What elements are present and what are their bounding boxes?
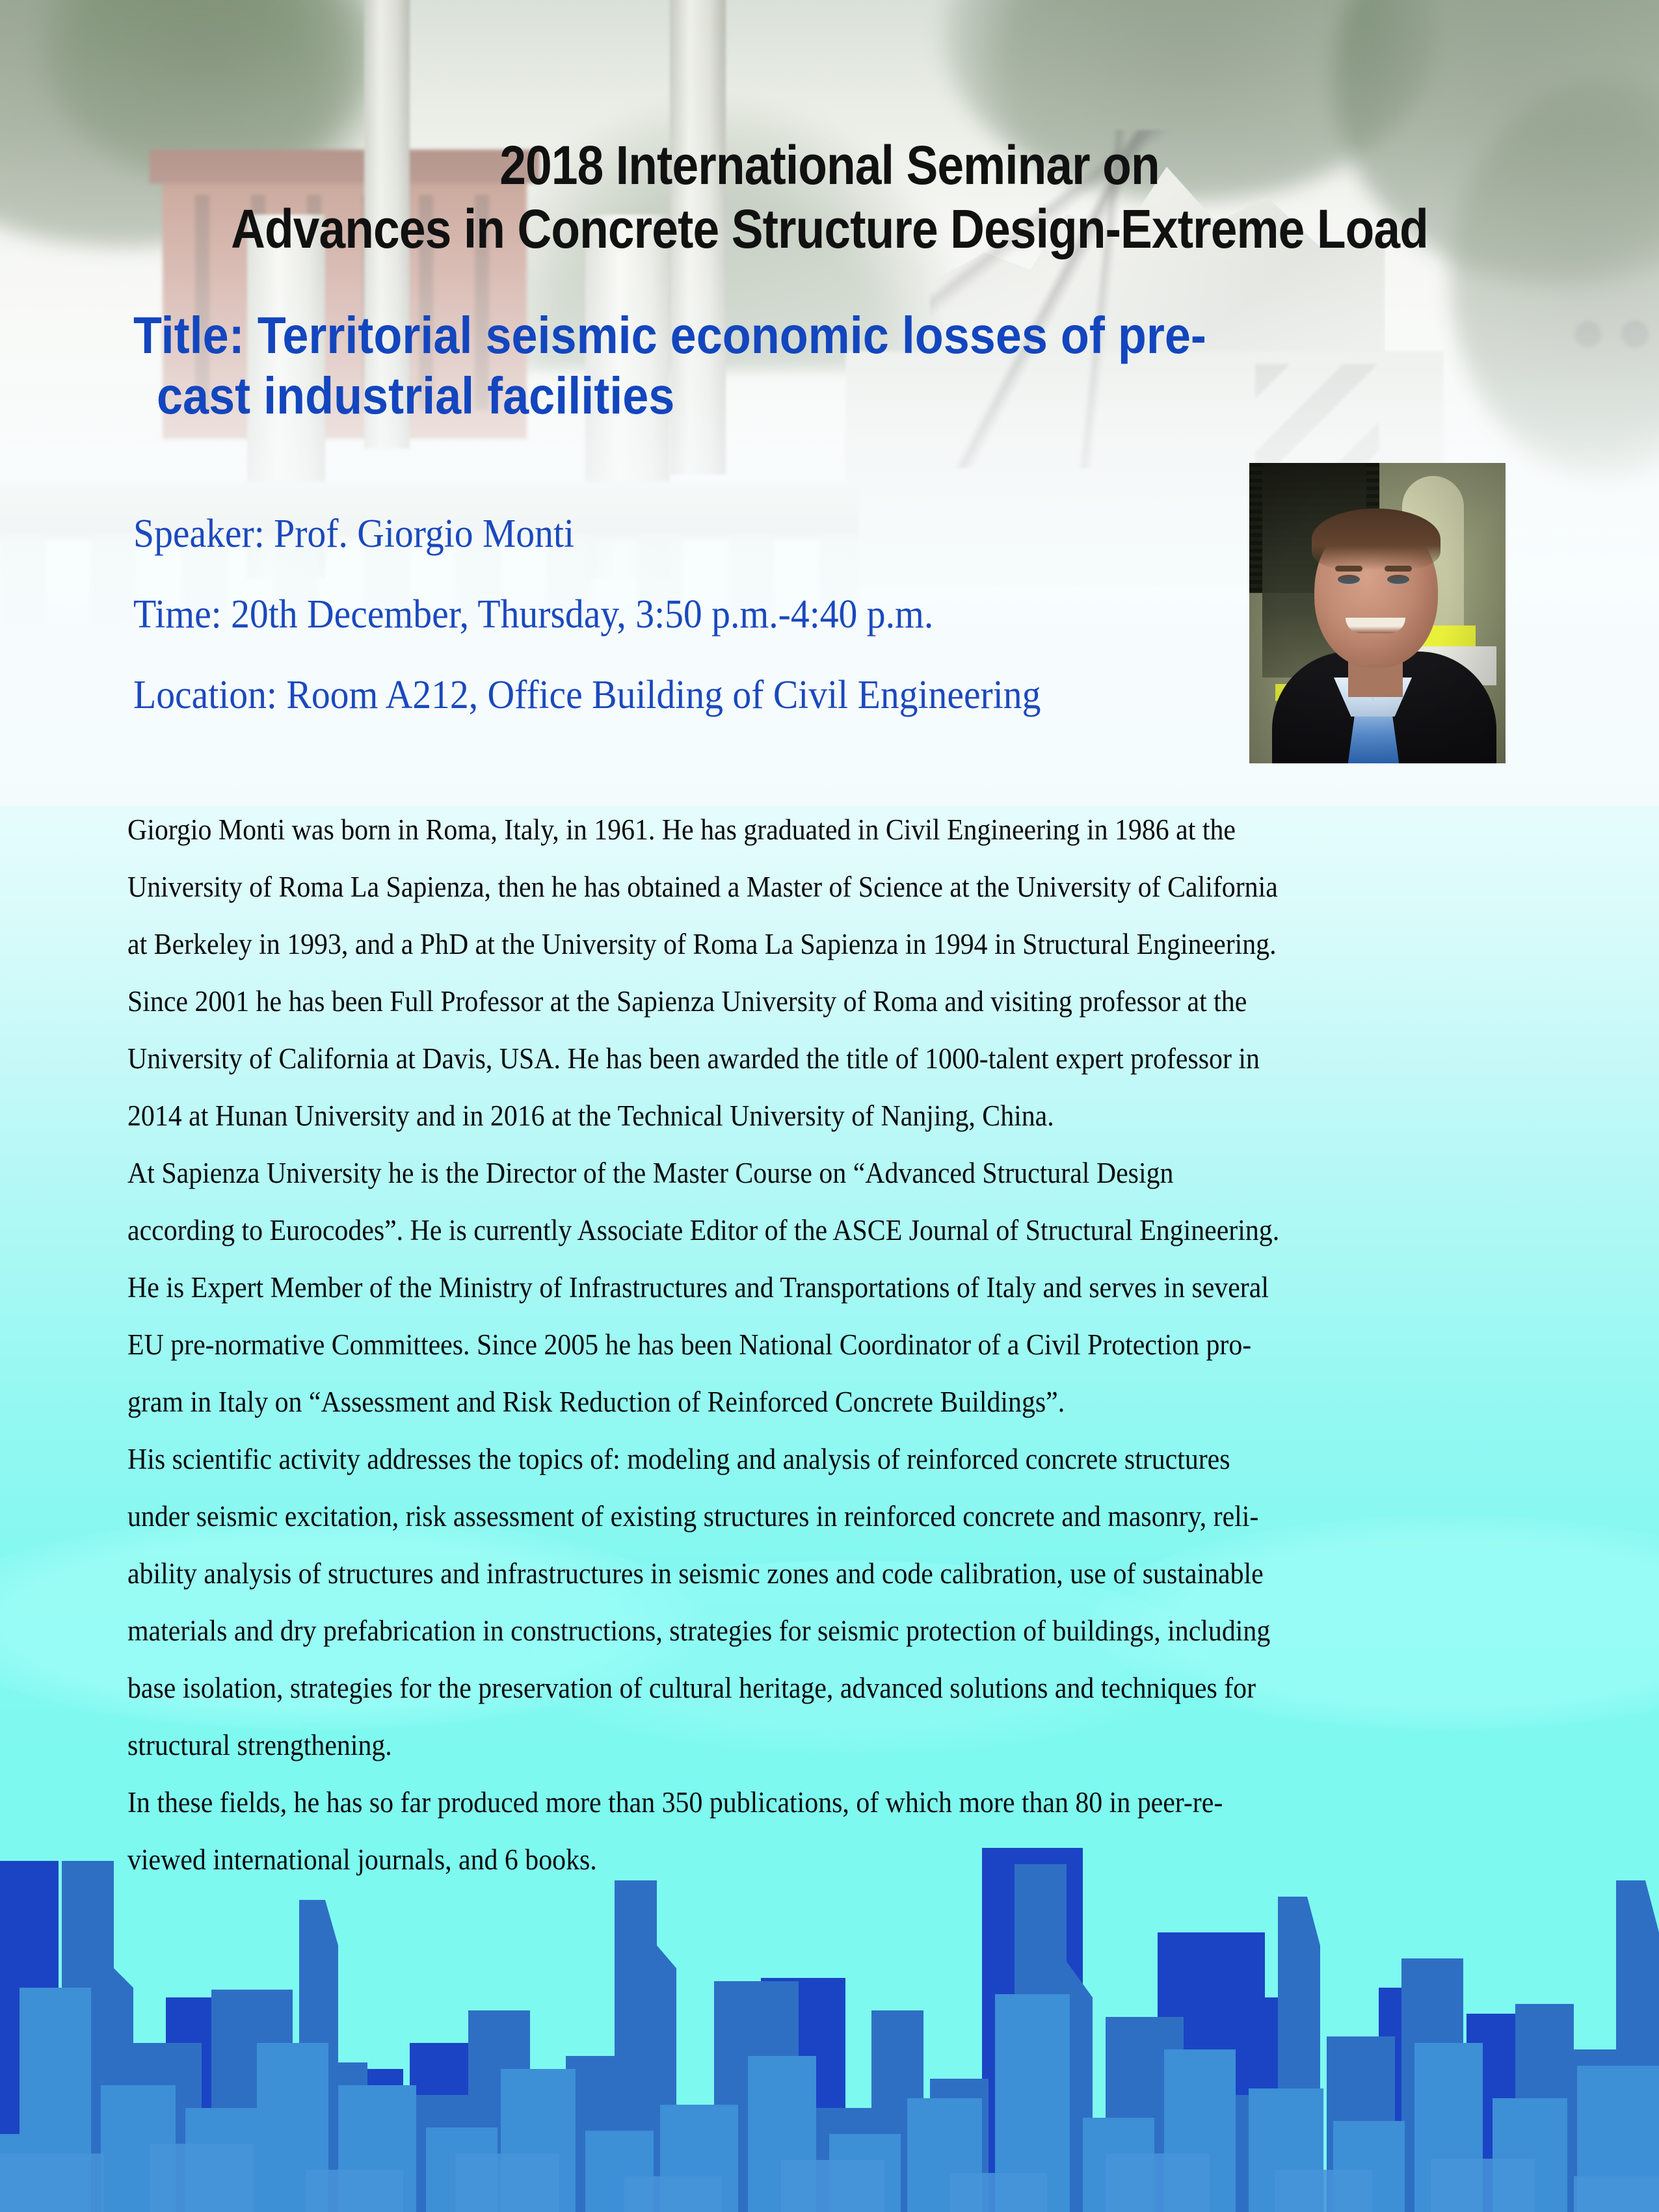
bio-paragraph-1: Giorgio Monti was born in Roma, Italy, i…: [127, 801, 1446, 1144]
speaker-line: Speaker: Prof. Giorgio Monti: [133, 514, 1198, 554]
bio-line: At Sapienza University he is the Directo…: [127, 1144, 1446, 1202]
bio-line: gram in Italy on “Assessment and Risk Re…: [127, 1373, 1446, 1430]
time-line: Time: 20th December, Thursday, 3:50 p.m.…: [133, 594, 1198, 635]
seminar-header: 2018 International Seminar on Advances i…: [108, 133, 1551, 261]
bio-line: University of California at Davis, USA. …: [127, 1030, 1446, 1087]
talk-title-line-2: cast industrial facilities: [157, 366, 1409, 427]
portrait-vignette: [1249, 463, 1506, 763]
bio-line: ability analysis of structures and infra…: [127, 1545, 1446, 1602]
location-line: Location: Room A212, Office Building of …: [133, 675, 1198, 715]
bio-line: base isolation, strategies for the prese…: [127, 1659, 1446, 1717]
bio-line: at Berkeley in 1993, and a PhD at the Un…: [127, 915, 1446, 973]
bio-line: materials and dry prefabrication in cons…: [127, 1602, 1446, 1659]
event-details: Speaker: Prof. Giorgio Monti Time: 20th …: [133, 514, 1198, 756]
bio-line: University of Roma La Sapienza, then he …: [127, 858, 1446, 915]
bio-line: EU pre-normative Committees. Since 2005 …: [127, 1316, 1446, 1373]
seminar-header-line-2: Advances in Concrete Structure Design-Ex…: [108, 197, 1551, 261]
bio-line: structural strengthening.: [127, 1717, 1446, 1774]
bio-line: His scientific activity addresses the to…: [127, 1430, 1446, 1488]
bio-line: viewed international journals, and 6 boo…: [127, 1831, 1446, 1888]
speaker-portrait: [1249, 463, 1506, 763]
talk-title: Title: Territorial seismic economic loss…: [133, 306, 1409, 427]
speaker-biography: Giorgio Monti was born in Roma, Italy, i…: [127, 801, 1446, 1888]
bio-line: Since 2001 he has been Full Professor at…: [127, 973, 1446, 1030]
bio-line: under seismic excitation, risk assessmen…: [127, 1488, 1446, 1545]
bio-line: Giorgio Monti was born in Roma, Italy, i…: [127, 801, 1446, 858]
skyline-svg: [0, 1848, 1659, 2212]
bio-line: according to Eurocodes”. He is currently…: [127, 1202, 1446, 1259]
city-skyline-graphic: [0, 1848, 1659, 2212]
bio-line: He is Expert Member of the Ministry of I…: [127, 1259, 1446, 1316]
seminar-header-line-1: 2018 International Seminar on: [108, 133, 1551, 197]
bio-line: In these fields, he has so far produced …: [127, 1774, 1446, 1831]
bio-paragraph-2: At Sapienza University he is the Directo…: [127, 1144, 1446, 1430]
bio-paragraph-3: His scientific activity addresses the to…: [127, 1430, 1446, 1774]
bio-line: 2014 at Hunan University and in 2016 at …: [127, 1087, 1446, 1144]
talk-title-line-1: Title: Territorial seismic economic loss…: [133, 306, 1206, 364]
bio-paragraph-4: In these fields, he has so far produced …: [127, 1774, 1446, 1888]
